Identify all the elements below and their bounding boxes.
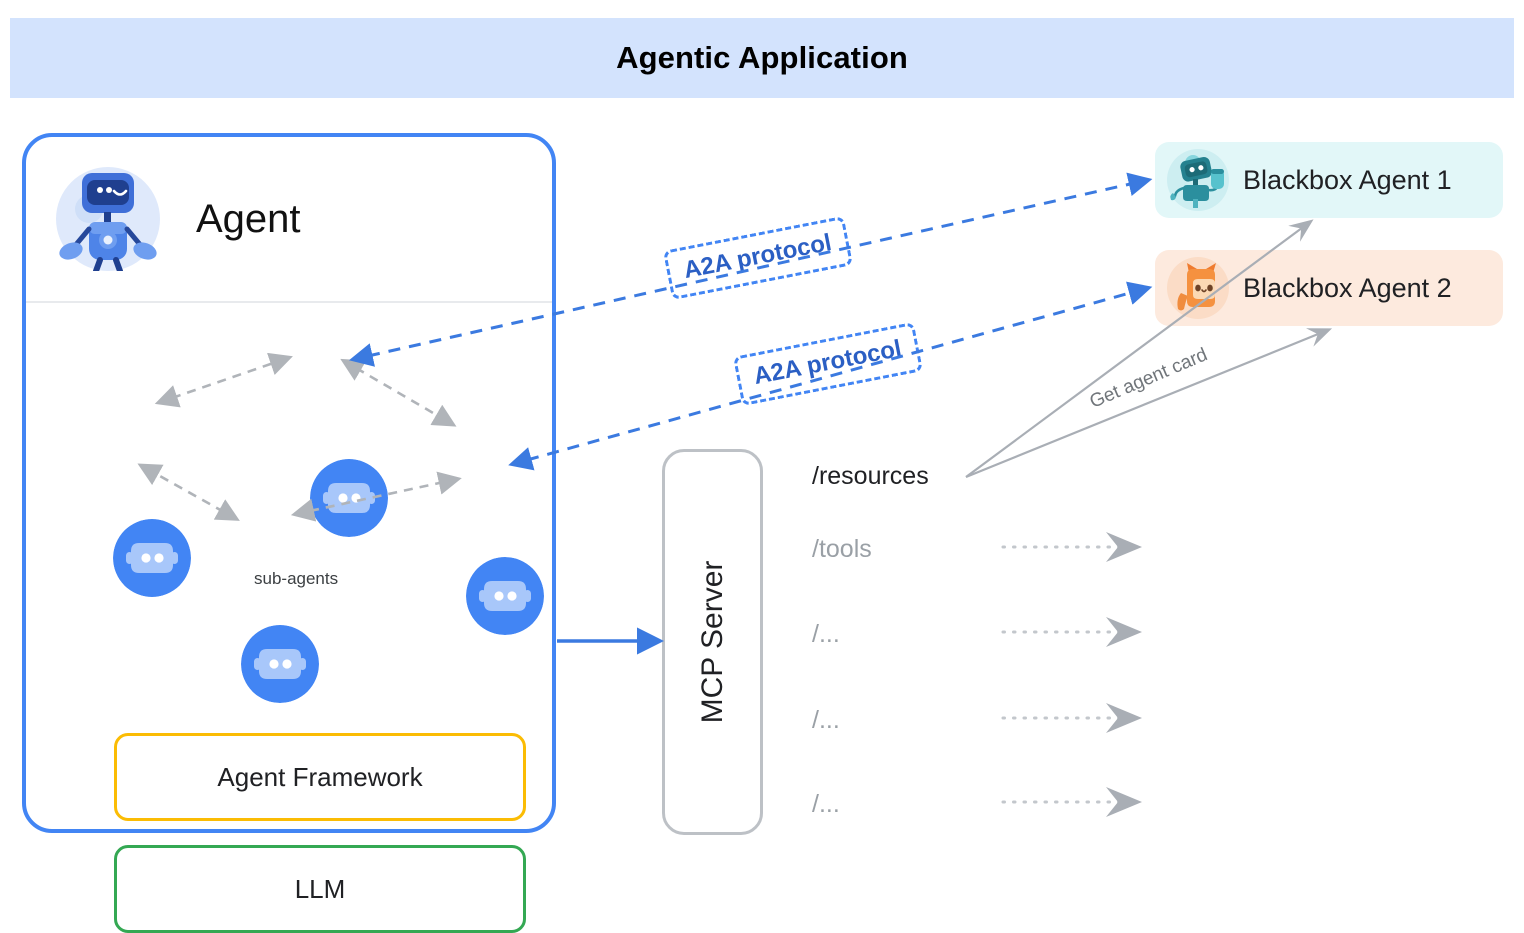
blackbox-agent-2-label: Blackbox Agent 2 [1243, 273, 1452, 304]
endpoint-other-3[interactable]: /... [812, 790, 840, 819]
orange-cat-avatar-icon [1167, 257, 1229, 319]
llm-box[interactable]: LLM [114, 845, 526, 933]
blackbox-agent-1-label: Blackbox Agent 1 [1243, 165, 1452, 196]
a2a-protocol-chip-2: A2A protocol [733, 322, 923, 406]
blue-robot-avatar-icon [56, 167, 160, 271]
agent-panel: Agent [22, 133, 556, 833]
diagram-canvas: Agentic Application [0, 0, 1524, 864]
page-title: Agentic Application [616, 40, 908, 76]
sub-agent-right[interactable] [466, 557, 544, 635]
agent-title: Agent [196, 197, 301, 242]
blackbox-agent-1-card[interactable]: Blackbox Agent 1 [1155, 142, 1503, 218]
a2a-protocol-chip-1: A2A protocol [663, 216, 853, 300]
endpoint-other-2[interactable]: /... [812, 706, 840, 735]
blackbox-agent-2-card[interactable]: Blackbox Agent 2 [1155, 250, 1503, 326]
get-agent-card-label: Get agent card [1087, 344, 1211, 413]
agent-framework-label: Agent Framework [217, 762, 422, 793]
endpoint-tools[interactable]: /tools [812, 535, 872, 564]
endpoint-resources[interactable]: /resources [812, 462, 929, 491]
agent-framework-box[interactable]: Agent Framework [114, 733, 526, 821]
header-banner: Agentic Application [10, 18, 1514, 98]
mcp-server-label: MCP Server [696, 561, 730, 724]
sub-agent-bottom[interactable] [241, 625, 319, 703]
sub-agent-left[interactable] [113, 519, 191, 597]
teal-robot-avatar-icon [1167, 149, 1229, 211]
mcp-server-box[interactable]: MCP Server [662, 449, 763, 835]
get-agent-card-arrow-2 [966, 330, 1328, 477]
llm-label: LLM [295, 874, 346, 905]
endpoint-other-1[interactable]: /... [812, 620, 840, 649]
agent-header: Agent [26, 137, 552, 301]
sub-agent-top[interactable] [310, 459, 388, 537]
subagents-group: sub-agents [26, 303, 552, 723]
subagents-label: sub-agents [254, 569, 338, 589]
